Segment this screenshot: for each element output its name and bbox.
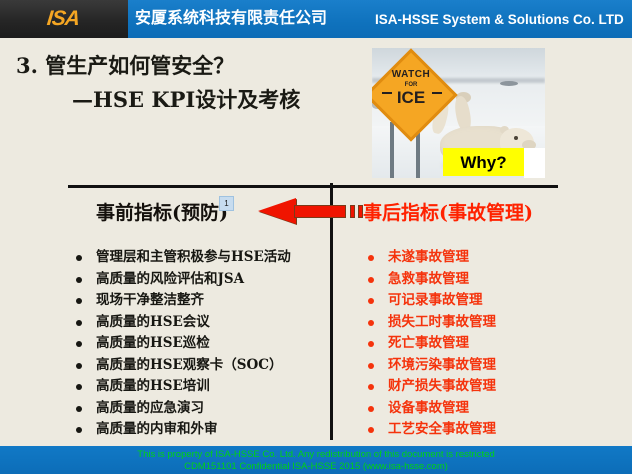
footnote-marker-badge[interactable]: 1 <box>219 196 234 211</box>
list-item: 工艺安全事故管理 <box>364 419 614 441</box>
isa-logo: ISA <box>26 8 100 30</box>
left-pointing-arrow <box>258 198 363 224</box>
arrow-shaft <box>294 205 346 218</box>
sign-post-left <box>390 122 394 178</box>
list-item: 高质量的HSE巡检 <box>72 333 322 355</box>
list-item: 高质量的HSE培训 <box>72 376 322 398</box>
arrow-tail-segment-2 <box>358 205 363 218</box>
arrow-head-icon <box>258 198 296 224</box>
bear-eye <box>514 136 518 140</box>
slide-subtitle: —HSE KPI设计及考核 <box>72 84 300 114</box>
list-item: 损失工时事故管理 <box>364 312 614 334</box>
list-item: 高质量的应急演习 <box>72 398 322 420</box>
header-title-chinese: 安厦系统科技有限责任公司 <box>135 8 327 30</box>
right-column-heading: 事后指标(事故管理) <box>363 198 533 225</box>
list-item: 财产损失事故管理 <box>364 376 614 398</box>
arrow-tail-segment-1 <box>350 205 355 218</box>
sign-text-block: WATCH FOR ICE <box>380 70 442 122</box>
header-title-english: ISA-HSSE System & Solutions Co. LTD <box>375 10 624 30</box>
footer-document-id-line: CDM151101 Confidential ISA-HSSE 2015 (ww… <box>0 461 632 473</box>
list-item: 高质量的HSE观察卡（SOC） <box>72 355 322 377</box>
list-item: 环境污染事故管理 <box>364 355 614 377</box>
list-item: 高质量的内审和外审 <box>72 419 322 441</box>
slide-title: 3. 管生产如何管安全？ <box>16 50 234 80</box>
list-item: 高质量的风险评估和JSA <box>72 269 322 291</box>
list-item: 高质量的HSE会议 <box>72 312 322 334</box>
sign-text-ice: ICE <box>380 89 442 106</box>
slide-canvas: ISA 安厦系统科技有限责任公司 ISA-HSSE System & Solut… <box>0 0 632 474</box>
why-caption-text: Why? <box>443 151 524 175</box>
rock-far <box>500 81 518 86</box>
left-column-heading: 事前指标(预防) <box>96 198 228 225</box>
footer-copyright-line: This is property of ISA-HSSE Co. Ltd. An… <box>0 449 632 461</box>
list-item: 管理层和主管积极参与HSE活动 <box>72 247 322 269</box>
list-item: 设备事故管理 <box>364 398 614 420</box>
photo-white-patch <box>524 148 545 178</box>
list-item: 死亡事故管理 <box>364 333 614 355</box>
sign-text-watch: WATCH <box>380 70 442 80</box>
list-item: 可记录事故管理 <box>364 290 614 312</box>
horizontal-divider <box>68 185 558 188</box>
list-item: 急救事故管理 <box>364 269 614 291</box>
leading-indicators-list: 管理层和主管积极参与HSE活动 高质量的风险评估和JSA 现场干净整洁整齐 高质… <box>72 247 322 441</box>
lagging-indicators-list: 未遂事故管理 急救事故管理 可记录事故管理 损失工时事故管理 死亡事故管理 环境… <box>364 247 614 441</box>
list-item: 现场干净整洁整齐 <box>72 290 322 312</box>
polar-bear-ice-photo: WATCH FOR ICE Why? <box>372 48 545 178</box>
list-item: 未遂事故管理 <box>364 247 614 269</box>
